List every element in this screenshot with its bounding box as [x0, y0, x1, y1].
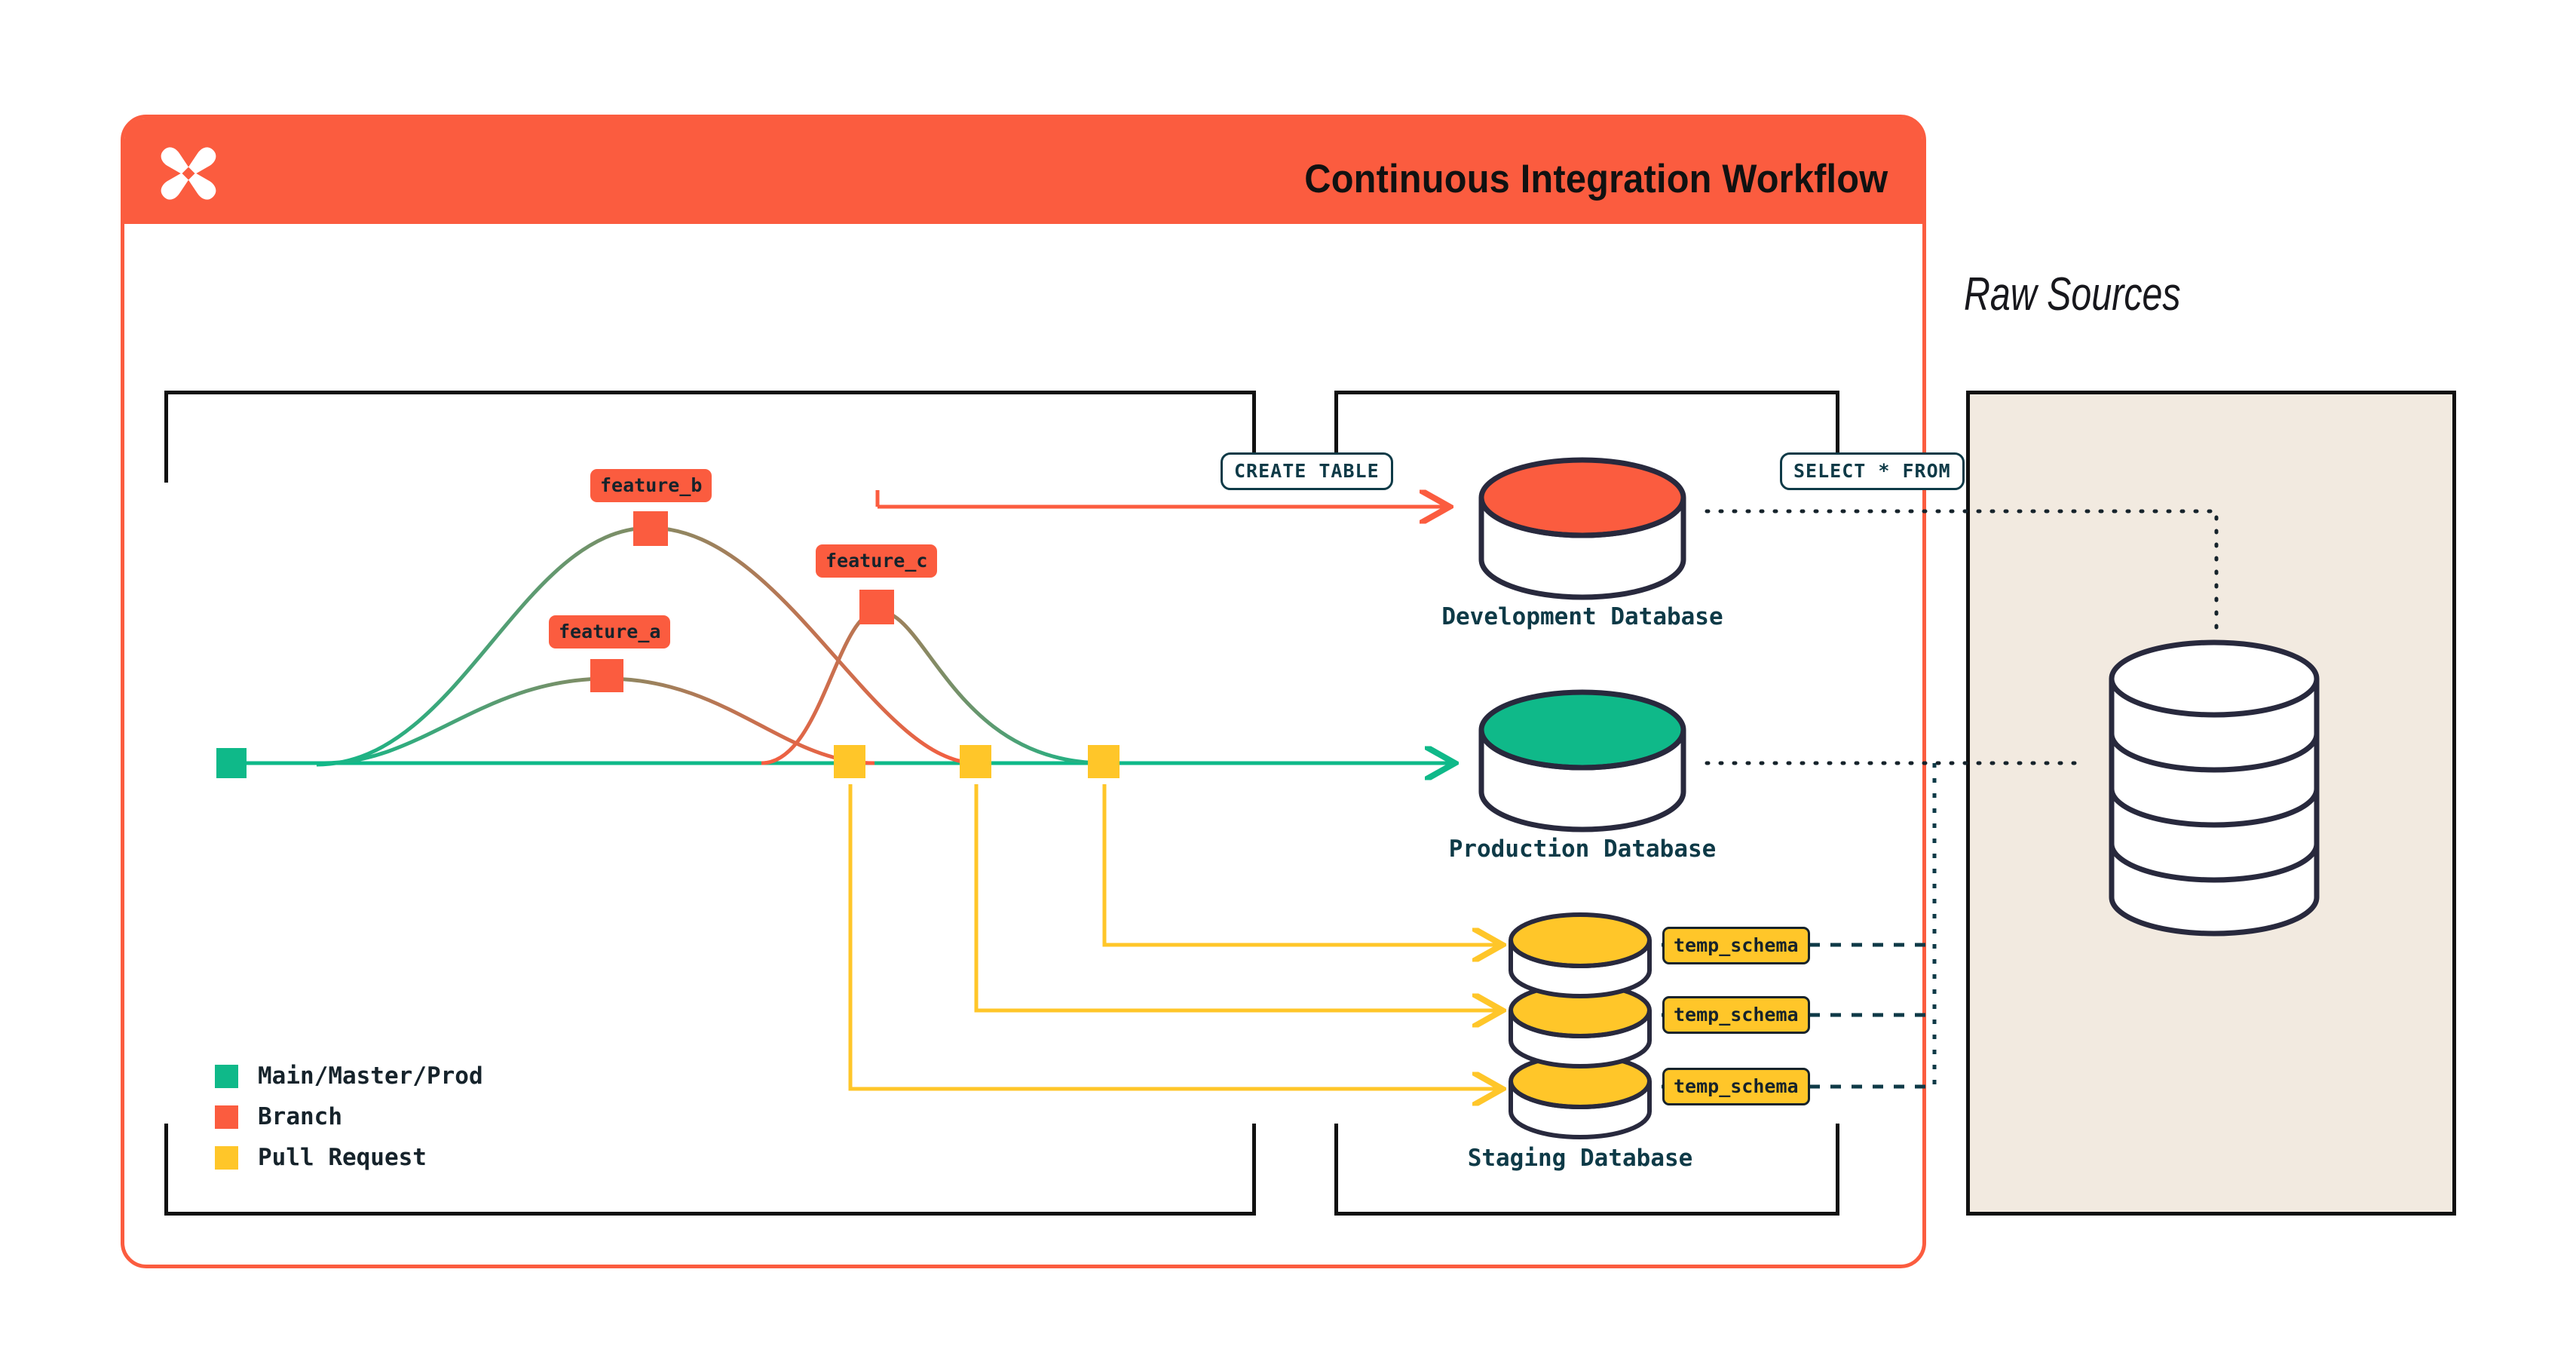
db-label-production: Production Database: [1449, 836, 1717, 863]
legend-label-pull-request: Pull Request: [258, 1144, 427, 1171]
db-label-development: Development Database: [1441, 603, 1723, 630]
sql-badge-select-from[interactable]: SELECT * FROM: [1780, 452, 1965, 490]
diagram-canvas: Git Repository Target Database Raw Sourc…: [0, 0, 2576, 1346]
schema-badge-1[interactable]: temp_schema: [1662, 927, 1810, 964]
legend-item-main: Main/Master/Prod: [215, 1056, 483, 1096]
branch-label-feature-c[interactable]: feature_c: [816, 544, 937, 578]
legend-item-branch: Branch: [215, 1096, 483, 1137]
sql-badge-create-table[interactable]: CREATE TABLE: [1221, 452, 1393, 490]
legend-swatch-main: [215, 1065, 238, 1088]
legend-item-pull-request: Pull Request: [215, 1137, 483, 1178]
bracket-mask: [1251, 483, 1260, 1124]
section-heading-raw-sources: Raw Sources: [1964, 268, 2181, 321]
legend-label-branch: Branch: [258, 1103, 342, 1130]
bracket-mask: [161, 483, 170, 1124]
schema-badge-3[interactable]: temp_schema: [1662, 1068, 1810, 1105]
db-label-staging: Staging Database: [1468, 1145, 1693, 1172]
branch-label-feature-a[interactable]: feature_a: [549, 615, 670, 648]
schema-badge-2[interactable]: temp_schema: [1662, 996, 1810, 1034]
bracket-mask: [1331, 483, 1340, 1124]
branch-label-feature-b[interactable]: feature_b: [590, 469, 712, 502]
legend-swatch-pull-request: [215, 1146, 238, 1170]
legend-label-main: Main/Master/Prod: [258, 1062, 483, 1090]
card-header-bar: Continuous Integration Workflow: [124, 118, 1922, 224]
legend-swatch-branch: [215, 1105, 238, 1129]
xplenty-x-logo-icon: [156, 141, 221, 206]
legend: Main/Master/Prod Branch Pull Request: [215, 1056, 483, 1178]
page-title: Continuous Integration Workflow: [1304, 156, 1888, 202]
bracket-mask: [1835, 483, 1844, 1124]
raw-sources-panel: [1966, 391, 2456, 1216]
